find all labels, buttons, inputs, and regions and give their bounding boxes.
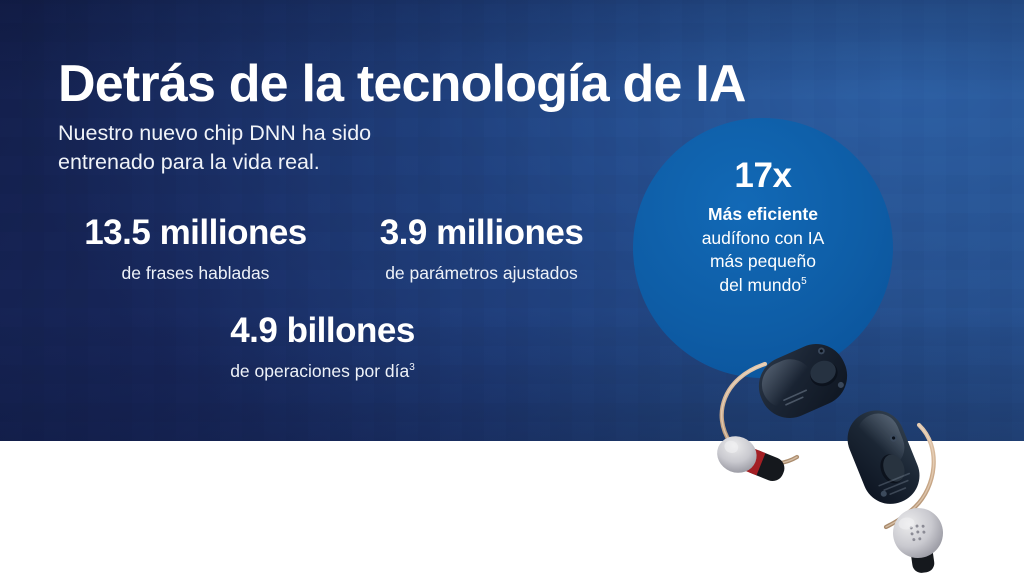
stat-label-text: de frases habladas — [122, 263, 270, 283]
stat-label: de parámetros ajustados — [349, 262, 614, 285]
badge-line-4: del mundo5 — [719, 274, 806, 297]
stat-label-text: de parámetros ajustados — [385, 263, 578, 283]
efficiency-badge-circle: 17x Más eficiente audífono con IA más pe… — [633, 118, 893, 378]
badge-footnote-marker: 5 — [801, 276, 807, 287]
device-2-button — [876, 451, 908, 487]
device-2-dome-vents — [909, 524, 926, 542]
efficiency-badge-content: 17x Más eficiente audífono con IA más pe… — [633, 118, 893, 378]
device-2-screw — [880, 490, 888, 498]
stat-label: de frases habladas — [63, 262, 328, 285]
stat-label-text: de operaciones por día — [230, 361, 409, 381]
badge-line-3: más pequeño — [710, 250, 816, 273]
badge-line-4-text: del mundo — [719, 275, 801, 295]
device-2-ear-dome — [890, 505, 949, 576]
promo-banner: 17x Más eficiente audífono con IA más pe… — [0, 0, 1024, 584]
stat-value: 13.5 milliones — [63, 214, 328, 253]
badge-line-2: audífono con IA — [702, 227, 825, 250]
device-1-red-band — [742, 447, 766, 475]
stat-block-parameters: 3.9 milliones de parámetros ajustados — [349, 214, 614, 284]
badge-lead-line: Más eficiente — [708, 203, 818, 226]
stat-value: 4.9 billones — [190, 312, 455, 351]
stat-block-phrases: 13.5 milliones de frases habladas — [63, 214, 328, 284]
stat-value: 3.9 milliones — [349, 214, 614, 253]
stat-label: de operaciones por día3 — [190, 360, 455, 383]
hero-background: 17x Más eficiente audífono con IA más pe… — [0, 0, 1024, 441]
device-2-vent-lines — [878, 473, 915, 498]
page-subtitle: Nuestro nuevo chip DNN ha sido entrenado… — [58, 119, 371, 177]
stat-block-operations: 4.9 billones de operaciones por día3 — [190, 312, 455, 382]
stat-footnote-marker: 3 — [409, 362, 415, 373]
page-title: Detrás de la tecnología de IA — [58, 57, 746, 111]
badge-multiplier: 17x — [734, 158, 791, 193]
